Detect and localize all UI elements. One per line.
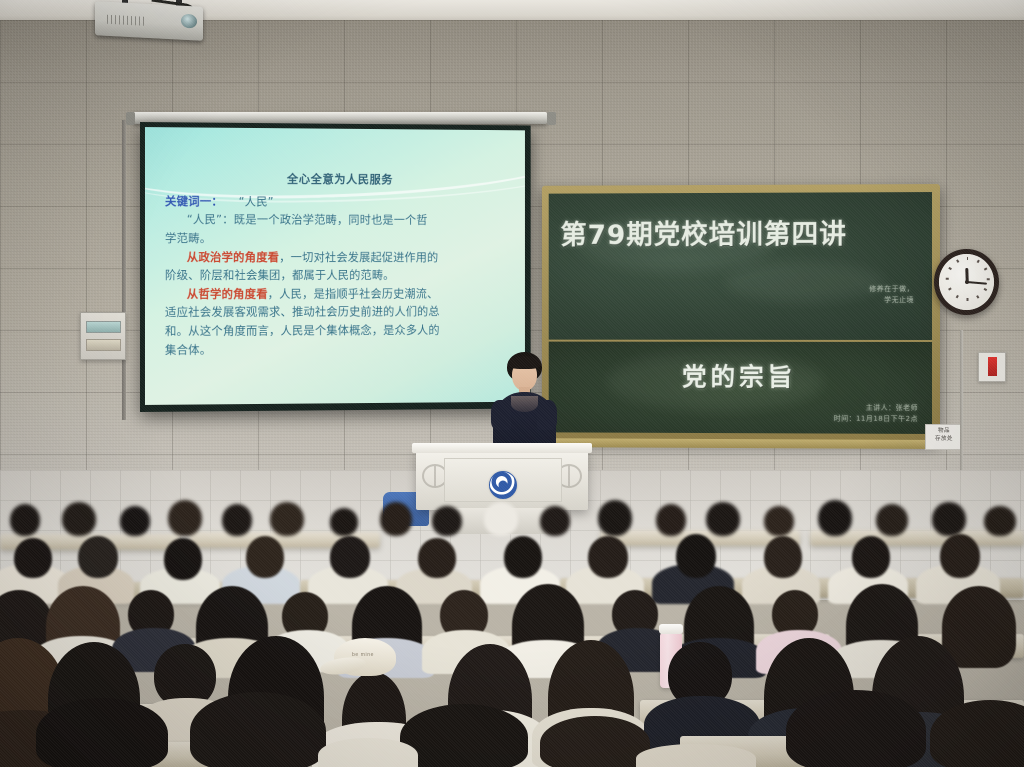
- blackboard-upper-panel: 第79期党校培训第四讲 修养在于做， 学无止境: [549, 192, 932, 343]
- av-control-panel[interactable]: [80, 312, 126, 360]
- lecturer-shoulder-right: [537, 400, 557, 430]
- slide-keyword-value: “人民”: [239, 194, 274, 208]
- blackboard-note-top: 修养在于做， 学无止境: [869, 284, 914, 305]
- projector-icon: [95, 1, 203, 41]
- audience: be mine: [0, 486, 1024, 767]
- slide-line-3b: 适应社会发展客观需求、推动社会历史前进的人们的总: [165, 303, 512, 322]
- screen-rail-end-right: [547, 112, 556, 125]
- slide-highlight-philosophy: 从哲学的角度看: [187, 287, 268, 301]
- slide-line-3d: 集合体。: [165, 339, 512, 359]
- chalk-tray: [546, 438, 938, 449]
- slide-line-3: 从哲学的角度看，人民，是指顺乎社会历史潮流、: [165, 284, 512, 303]
- panel-slot-lower: [86, 339, 121, 351]
- projection-screen: 全心全意为人民服务 关键词一： “人民” “人民”：既是一个政治学范畴，同时也是…: [140, 122, 531, 412]
- slide-content: 全心全意为人民服务 关键词一： “人民” “人民”：既是一个政治学范畴，同时也是…: [145, 127, 525, 405]
- podium-top-surface: [412, 443, 592, 453]
- blackboard-surface: 第79期党校培训第四讲 修养在于做， 学无止境 党的宗旨 主讲人：张老师 时间：…: [549, 192, 932, 434]
- clock-face: [939, 254, 994, 310]
- clock-icon: [934, 249, 999, 315]
- blackboard-heading: 第79期党校培训第四讲: [560, 212, 922, 252]
- wall-edge: [122, 120, 126, 420]
- slide-line-1: “人民”：既是一个政治学范畴，同时也是一个哲: [165, 210, 512, 229]
- clock-center: [965, 280, 969, 284]
- slide-line-3c: 和。从这个角度而言，人民是个集体概念，是众多人的: [165, 321, 512, 341]
- slide-keyword-label: 关键词一：: [165, 194, 223, 208]
- panel-slot-upper: [86, 321, 121, 333]
- lecturer-neckline: [511, 396, 538, 412]
- blackboard-subject: 党的宗旨: [549, 357, 932, 394]
- blackboard-lower-panel: 党的宗旨 主讲人：张老师 时间：11月18日下午2点: [549, 342, 932, 434]
- slide-keyword-line: 关键词一： “人民”: [165, 192, 512, 212]
- lecture-hall-photo: 全心全意为人民服务 关键词一： “人民” “人民”：既是一个政治学范畴，同时也是…: [0, 0, 1024, 767]
- slide-line-2-rest: ，一切对社会发展起促进作用的: [279, 250, 438, 264]
- slide-line-2b: 阶级、阶层和社会集团，都属于人民的范畴。: [165, 266, 512, 285]
- slide-line-3-rest: ，人民，是指顺乎社会历史潮流、: [268, 286, 439, 300]
- lecturer-fringe: [508, 356, 541, 369]
- slide-surface: 全心全意为人民服务 关键词一： “人民” “人民”：既是一个政治学范畴，同时也是…: [145, 127, 525, 405]
- screen-rail-end-left: [126, 112, 135, 125]
- slide-line-1b: 学范畴。: [165, 229, 512, 248]
- blackboard: 第79期党校培训第四讲 修养在于做， 学无止境 党的宗旨 主讲人：张老师 时间：…: [542, 184, 940, 442]
- projector-lens-icon: [181, 14, 197, 29]
- alarm-red-indicator: [988, 357, 997, 376]
- slide-title: 全心全意为人民服务: [165, 169, 512, 189]
- slide-line-2: 从政治学的角度看，一切对社会发展起促进作用的: [165, 248, 512, 267]
- thermos-cap: [659, 624, 683, 634]
- projector-vent: [107, 15, 147, 26]
- clock-minute-hand: [966, 281, 986, 285]
- slide-highlight-politics: 从政治学的角度看: [187, 250, 279, 264]
- wall-sign: 物品 存放处: [925, 424, 963, 450]
- blackboard-note-bottom: 主讲人：张老师 时间：11月18日下午2点: [834, 403, 918, 424]
- lecturer-shoulder-left: [491, 400, 511, 430]
- emergency-alarm-box[interactable]: [978, 352, 1006, 382]
